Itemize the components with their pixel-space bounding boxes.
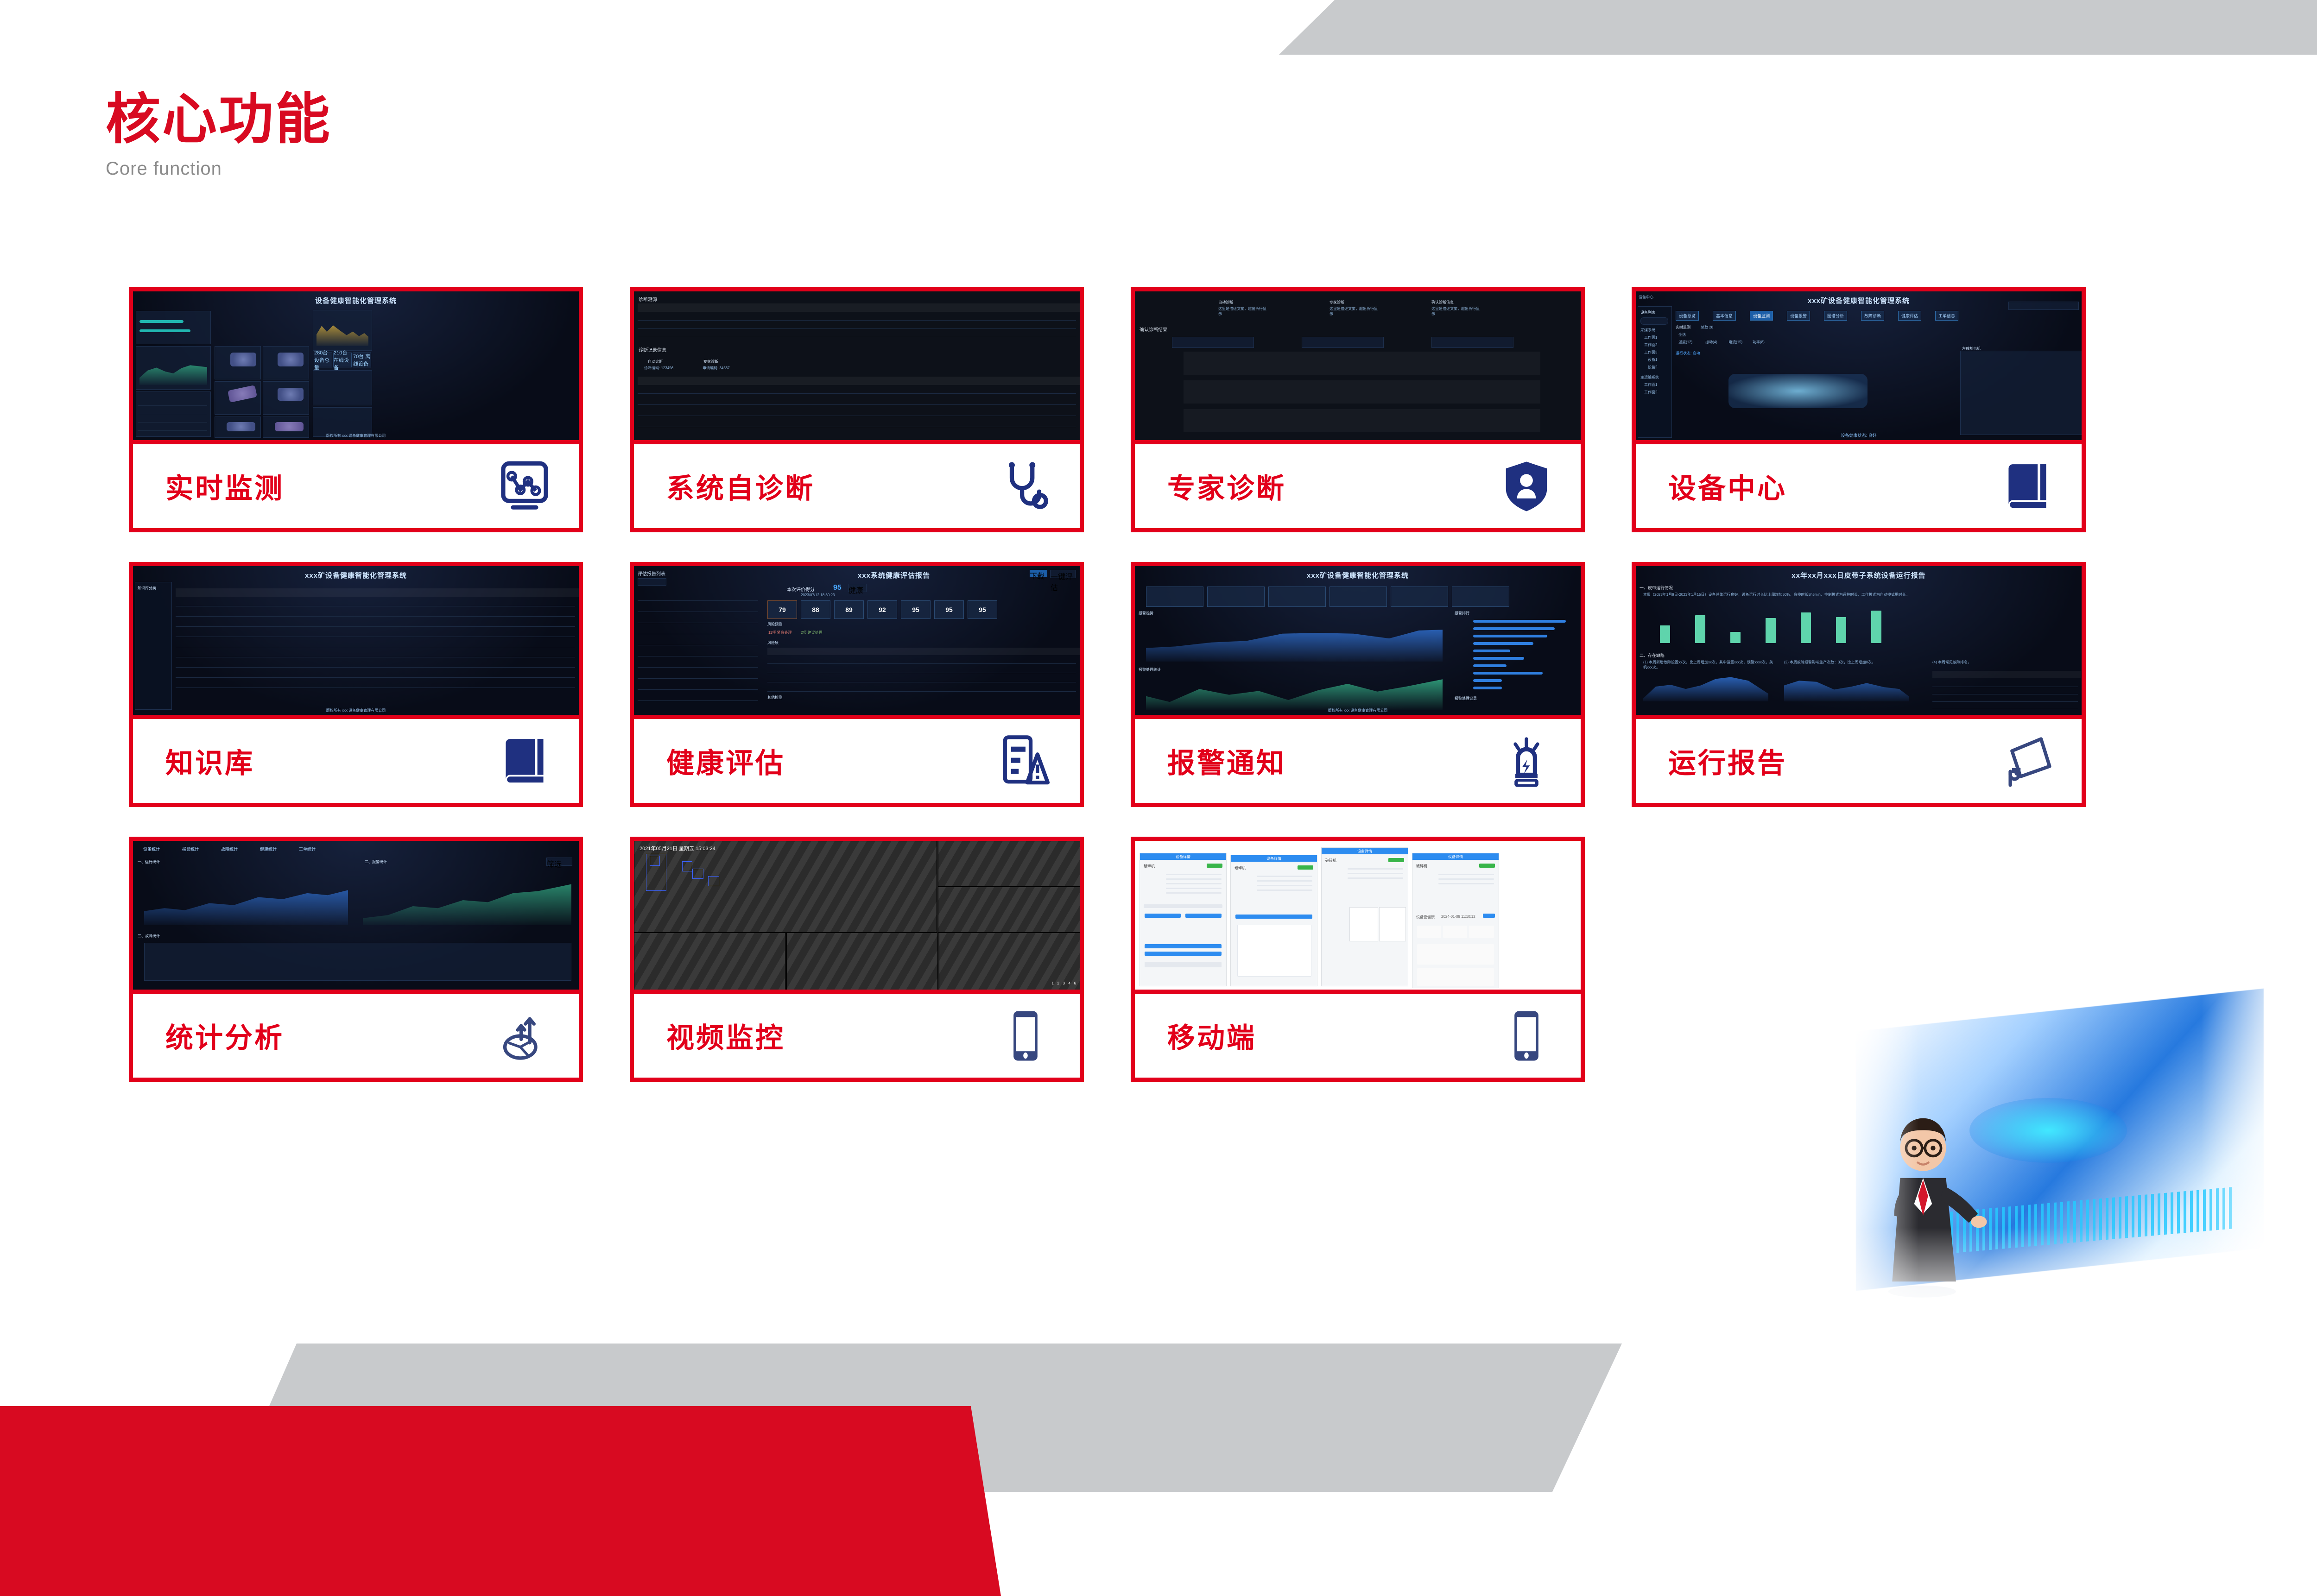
card-label: 知识库 xyxy=(165,741,254,781)
step-label: 专家诊断 xyxy=(703,359,718,364)
video-page-1[interactable]: 1 xyxy=(1052,981,1054,985)
card-footer: 健康评估 xyxy=(634,719,1080,803)
mobile-screen-title: 设备详情 xyxy=(1322,849,1408,854)
holographic-machine-model xyxy=(1969,1098,2127,1163)
tab-设备统计[interactable]: 设备统计 xyxy=(140,845,163,853)
shot-section-title: 报警处理统计 xyxy=(1139,667,1161,672)
card-label: 设备中心 xyxy=(1668,466,1787,506)
score-badge: 健康 xyxy=(848,584,867,592)
step-label: 自动诊断 xyxy=(648,359,663,364)
card-label: 统计分析 xyxy=(165,1016,284,1056)
sidebar-item[interactable]: 工作面2 xyxy=(1644,390,1657,395)
card-footer: 移动端 xyxy=(1135,994,1581,1078)
shot-section-title: 报警处理记录 xyxy=(1455,696,1477,701)
card-footer: 设备中心 xyxy=(1636,444,2082,528)
card-screenshot-device-center: xxx矿设备健康智能化管理系统 设备中心 设备列表 采煤系统 工作面1 工作面2… xyxy=(1636,291,2082,444)
card-row: xxx矿设备健康智能化管理系统 知识库分类 版权所有 xxx 设备健康管理有限公… xyxy=(129,562,2223,807)
select-故障程度[interactable] xyxy=(1302,337,1384,348)
tab-健康统计[interactable]: 健康统计 xyxy=(257,845,279,853)
card-row: 设备健康智能化管理系统 xyxy=(129,287,2223,532)
tab-报警统计[interactable]: 报警统计 xyxy=(179,845,202,853)
step-label: 确认诊断信息 xyxy=(1431,300,1454,305)
phone-icon xyxy=(1499,1009,1554,1063)
feature-card-health-assessment[interactable]: 评估报告列表 xxx系统健康评估报告 下载 一键评估 本次评价得分 95 健康 … xyxy=(630,562,1084,807)
total-count: 总数 28 xyxy=(1701,325,1713,330)
list-title: 评估报告列表 xyxy=(638,570,665,577)
card-label: 实时监测 xyxy=(165,466,284,506)
feature-card-realtime-monitoring[interactable]: 设备健康智能化管理系统 xyxy=(129,287,583,532)
book-icon xyxy=(497,734,552,789)
tab-设备总览[interactable]: 设备总览 xyxy=(1676,311,1699,321)
sidebar-item[interactable]: 主运输系统 xyxy=(1640,375,1659,380)
select-故障位置[interactable] xyxy=(1172,337,1254,348)
operator-dashboard-illustration xyxy=(1770,982,2294,1334)
sidebar-title: 知识库分类 xyxy=(138,586,156,591)
assessment-title: 设备亚健康 xyxy=(1416,915,1435,920)
shot-footer: 版权所有 xxx 设备健康管理有限公司 xyxy=(1135,708,1581,713)
feature-card-alarm-notification[interactable]: xxx矿设备健康智能化管理系统 报警趋势 报警处理统计 报警排行 xyxy=(1131,562,1585,807)
checkbox-select-all[interactable]: 全选 xyxy=(1678,332,1686,337)
feature-card-system-self-diagnosis[interactable]: 诊断溯源 诊断记录信息 自动诊断 专家诊断 诊断编码: 123456 申请编码:… xyxy=(630,287,1084,532)
stethoscope-icon xyxy=(998,459,1053,514)
shot-section-title: 诊断溯源 xyxy=(639,296,657,303)
step-label: 专家诊断 xyxy=(1329,300,1344,305)
feature-card-video-surveillance[interactable]: 2021年05月21日 星期五 15:03:24 1 2 3 4 6 xyxy=(630,837,1084,1082)
tab-设备监测[interactable]: 设备监测 xyxy=(1750,311,1773,321)
card-screenshot-realtime-monitoring: 设备健康智能化管理系统 xyxy=(133,291,579,444)
card-label: 视频监控 xyxy=(666,1016,785,1056)
shot-section-title: 报警排行 xyxy=(1455,611,1469,616)
tab-基本信息[interactable]: 基本信息 xyxy=(1713,311,1736,321)
feature-card-mobile-app[interactable]: 设备详情 破碎机 xyxy=(1131,837,1585,1082)
card-label: 系统自诊断 xyxy=(666,466,815,506)
tab-工单信息[interactable]: 工单信息 xyxy=(1935,311,1958,321)
shot-title: 设备健康智能化管理系统 xyxy=(133,296,579,305)
card-label: 移动端 xyxy=(1167,1016,1256,1056)
run-state: 运行状态: 启动 xyxy=(1676,351,1700,356)
shot-section-title: 报警趋势 xyxy=(1139,611,1153,616)
checkbox-current[interactable]: 电流(15) xyxy=(1728,340,1742,345)
sidebar-item[interactable]: 采煤系统 xyxy=(1640,328,1655,333)
right-panel-title: 左截割电机 xyxy=(1962,346,1981,351)
card-label: 运行报告 xyxy=(1668,741,1787,781)
card-label: 专家诊断 xyxy=(1167,466,1286,506)
card-label: 报警通知 xyxy=(1167,741,1286,781)
tab-工单统计[interactable]: 工单统计 xyxy=(296,845,318,853)
card-screenshot-health-assessment: 评估报告列表 xxx系统健康评估报告 下载 一键评估 本次评价得分 95 健康 … xyxy=(634,566,1080,719)
book-icon xyxy=(2000,459,2055,514)
card-footer: 实时监测 xyxy=(133,444,579,528)
step-description: 这里是描述文案，超出折行显示 xyxy=(1329,306,1380,316)
pie-growth-icon xyxy=(497,1009,552,1063)
tab-图谱分析[interactable]: 图谱分析 xyxy=(1824,311,1847,321)
card-footer: 专家诊断 xyxy=(1135,444,1581,528)
video-page-4[interactable]: 4 xyxy=(1069,981,1070,985)
checkbox-temperature[interactable]: 温度(12) xyxy=(1678,340,1692,345)
breadcrumb: 设备中心 xyxy=(1639,295,1653,300)
sidebar-item[interactable]: 工作面1 xyxy=(1644,335,1657,340)
sidebar-search[interactable] xyxy=(1640,317,1668,325)
system-search-input[interactable] xyxy=(638,578,666,586)
tab-设备报警[interactable]: 设备报警 xyxy=(1787,311,1810,321)
shot-section-title: 实时监测 xyxy=(1676,325,1690,330)
tab-故障诊断[interactable]: 故障诊断 xyxy=(1861,311,1884,321)
shot-section-title: 其他检测 xyxy=(767,695,782,700)
step-description: 这里是描述文案，超出折行显示 xyxy=(1431,306,1482,316)
illustration-fade-bottom xyxy=(1770,1228,2294,1334)
step-label: 自动诊断 xyxy=(1218,300,1233,305)
mobile-screen-title: 设备详情 xyxy=(1412,854,1499,859)
filter-button[interactable]: 筛选 xyxy=(546,858,572,866)
video-page-6[interactable]: 6 xyxy=(1074,981,1076,985)
card-footer: 统计分析 xyxy=(133,994,579,1078)
download-button[interactable]: 下载 xyxy=(1030,570,1047,577)
mobile-screen-title: 设备详情 xyxy=(1140,854,1226,859)
video-page-2[interactable]: 2 xyxy=(1057,981,1059,985)
feature-card-knowledge-base[interactable]: xxx矿设备健康智能化管理系统 知识库分类 版权所有 xxx 设备健康管理有限公… xyxy=(129,562,583,807)
feature-card-device-center[interactable]: xxx矿设备健康智能化管理系统 设备中心 设备列表 采煤系统 工作面1 工作面2… xyxy=(1632,287,2086,532)
shot-section-title: 一、运行统计 xyxy=(138,859,160,864)
sidebar-item[interactable]: 设备2 xyxy=(1648,365,1657,370)
kpi-chip: 280台 设备总量 xyxy=(314,353,332,367)
tab-健康评估[interactable]: 健康评估 xyxy=(1898,311,1921,321)
shot-section-title: 风险预测 xyxy=(767,622,782,627)
select-故障类型[interactable] xyxy=(1431,337,1513,348)
report-note: (1) 本周新增故障设置xx次，比上周增加xx次，其中设置xxx次，误警xxxx… xyxy=(1643,660,1773,670)
tab-故障统计[interactable]: 故障统计 xyxy=(218,845,241,853)
card-footer: 知识库 xyxy=(133,719,579,803)
score-time: 2023/07/12 18:30:23 xyxy=(801,593,835,597)
shot-title: xxx矿设备健康智能化管理系统 xyxy=(1135,570,1581,580)
shot-title: xxx矿设备健康智能化管理系统 xyxy=(133,570,579,580)
sidebar-item[interactable]: 设备1 xyxy=(1648,357,1657,362)
checkbox-vibration[interactable]: 振动(4) xyxy=(1705,340,1717,345)
mobile-screen-title: 设备详情 xyxy=(1231,856,1317,861)
score-label: 本次评价得分 xyxy=(787,586,815,593)
sidebar-item[interactable]: 工作面2 xyxy=(1644,342,1657,347)
card-screenshot-operation-report: xx年xx月xxx日皮带子系统设备运行报告 一、皮带运行情况 本周（2023年1… xyxy=(1636,566,2082,719)
page-header: 核心功能 Core function xyxy=(106,91,332,179)
feature-card-operation-report[interactable]: xx年xx月xxx日皮带子系统设备运行报告 一、皮带运行情况 本周（2023年1… xyxy=(1632,562,2086,807)
device-name: 破碎机 xyxy=(1416,864,1427,869)
shot-footer: 版权所有 xxx 设备健康管理有限公司 xyxy=(133,708,579,713)
card-footer: 视频监控 xyxy=(634,994,1080,1078)
score-value: 95 xyxy=(833,584,842,592)
report-note: (2) 本周故障报警影响生产次数：3次，比上周增加0次。 xyxy=(1784,660,1914,665)
card-footer: 运行报告 xyxy=(1636,719,2082,803)
alarm-siren-icon xyxy=(1499,734,1554,789)
shot-section-title: 三、故障统计 xyxy=(138,934,160,939)
sidebar-item[interactable]: 工作面1 xyxy=(1644,382,1657,387)
card-screenshot-statistical-analysis: 设备统计 报警统计 故障统计 健康统计 工单统计 一、运行统计 二、报警统计 筛… xyxy=(133,841,579,994)
shield-person-icon xyxy=(1499,459,1554,514)
shot-section-title: 风险项 xyxy=(767,640,779,645)
sidebar-title: 设备列表 xyxy=(1640,310,1655,315)
step-meta: 诊断编码: 123456 xyxy=(644,366,673,371)
report-paragraph: 本周（2023年1月9日-2023年1月15日）设备总体运行良好，设备运行时长比… xyxy=(1643,592,2074,598)
card-footer: 报警通知 xyxy=(1135,719,1581,803)
card-screenshot-knowledge-base: xxx矿设备健康智能化管理系统 知识库分类 版权所有 xxx 设备健康管理有限公… xyxy=(133,566,579,719)
step-description: 这里是描述文案，超出折行显示 xyxy=(1218,306,1269,316)
assessment-time: 2024-01-09 11:10:12 xyxy=(1441,915,1475,919)
video-timestamp: 2021年05月21日 星期五 15:03:24 xyxy=(639,845,715,852)
device-name: 破碎机 xyxy=(1144,864,1155,869)
device-name: 破碎机 xyxy=(1325,858,1336,863)
feature-card-statistical-analysis[interactable]: 设备统计 报警统计 故障统计 健康统计 工单统计 一、运行统计 二、报警统计 筛… xyxy=(129,837,583,1082)
checkbox-power[interactable]: 功率(8) xyxy=(1753,340,1765,345)
kpi-chip: 210台 在线设备 xyxy=(333,353,352,367)
page-subtitle: Core function xyxy=(106,158,332,179)
page-title: 核心功能 xyxy=(106,91,332,148)
shot-footer: 版权所有 xxx 设备健康管理有限公司 xyxy=(133,433,579,438)
cctv-camera-icon xyxy=(2000,734,2055,789)
card-screenshot-expert-diagnosis: 自动诊断 专家诊断 确认诊断信息 这里是描述文案，超出折行显示 这里是描述文案，… xyxy=(1135,291,1581,444)
card-label: 健康评估 xyxy=(666,741,785,781)
card-screenshot-mobile-app: 设备详情 破碎机 xyxy=(1135,841,1581,994)
shot-section-title: 一、皮带运行情况 xyxy=(1640,585,1673,591)
card-screenshot-system-self-diagnosis: 诊断溯源 诊断记录信息 自动诊断 专家诊断 诊断编码: 123456 申请编码:… xyxy=(634,291,1080,444)
shot-title: xx年xx月xxx日皮带子系统设备运行报告 xyxy=(1636,570,2082,580)
card-screenshot-alarm-notification: xxx矿设备健康智能化管理系统 报警趋势 报警处理统计 报警排行 xyxy=(1135,566,1581,719)
report-doc-icon xyxy=(998,734,1053,789)
one-click-assess-button[interactable]: 一键评估 xyxy=(1050,570,1076,578)
textarea-诊断结果[interactable] xyxy=(1184,352,1540,375)
kpi-chip: 70台 离线设备 xyxy=(353,353,371,367)
shot-title: xxx系统健康评估报告 xyxy=(764,570,1024,580)
shot-section-title: 确认诊断结果 xyxy=(1140,326,1167,333)
report-note: (4) 本周常见故障排名。 xyxy=(1932,660,2062,665)
card-footer: 系统自诊断 xyxy=(634,444,1080,528)
risk-tag: 11项 紧急处理 xyxy=(768,630,792,635)
top-gray-banner-shape xyxy=(1279,0,2317,55)
phone-icon xyxy=(998,1009,1053,1063)
step-meta: 申请编码: 34567 xyxy=(703,366,730,371)
line-chart-monitor-icon xyxy=(497,459,552,514)
sidebar-item[interactable]: 工作面3 xyxy=(1644,350,1657,355)
shot-section-title: 诊断记录信息 xyxy=(639,346,666,353)
shot-section-title: 二、存在缺陷 xyxy=(1640,652,1665,658)
risk-tag: 2项 建议处理 xyxy=(801,630,823,635)
status-text: 设备健康状态: 良好 xyxy=(1636,432,2082,438)
device-name: 破碎机 xyxy=(1234,865,1246,871)
shot-section-title: 二、报警统计 xyxy=(365,859,387,864)
bottom-red-banner-shape xyxy=(0,1406,1001,1596)
textarea-故障原因[interactable] xyxy=(1184,380,1540,404)
textarea-故障处理建议[interactable] xyxy=(1184,409,1540,432)
feature-card-expert-diagnosis[interactable]: 自动诊断 专家诊断 确认诊断信息 这里是描述文案，超出折行显示 这里是描述文案，… xyxy=(1131,287,1585,532)
video-page-3[interactable]: 3 xyxy=(1063,981,1065,985)
card-screenshot-video-surveillance: 2021年05月21日 星期五 15:03:24 1 2 3 4 6 xyxy=(634,841,1080,994)
